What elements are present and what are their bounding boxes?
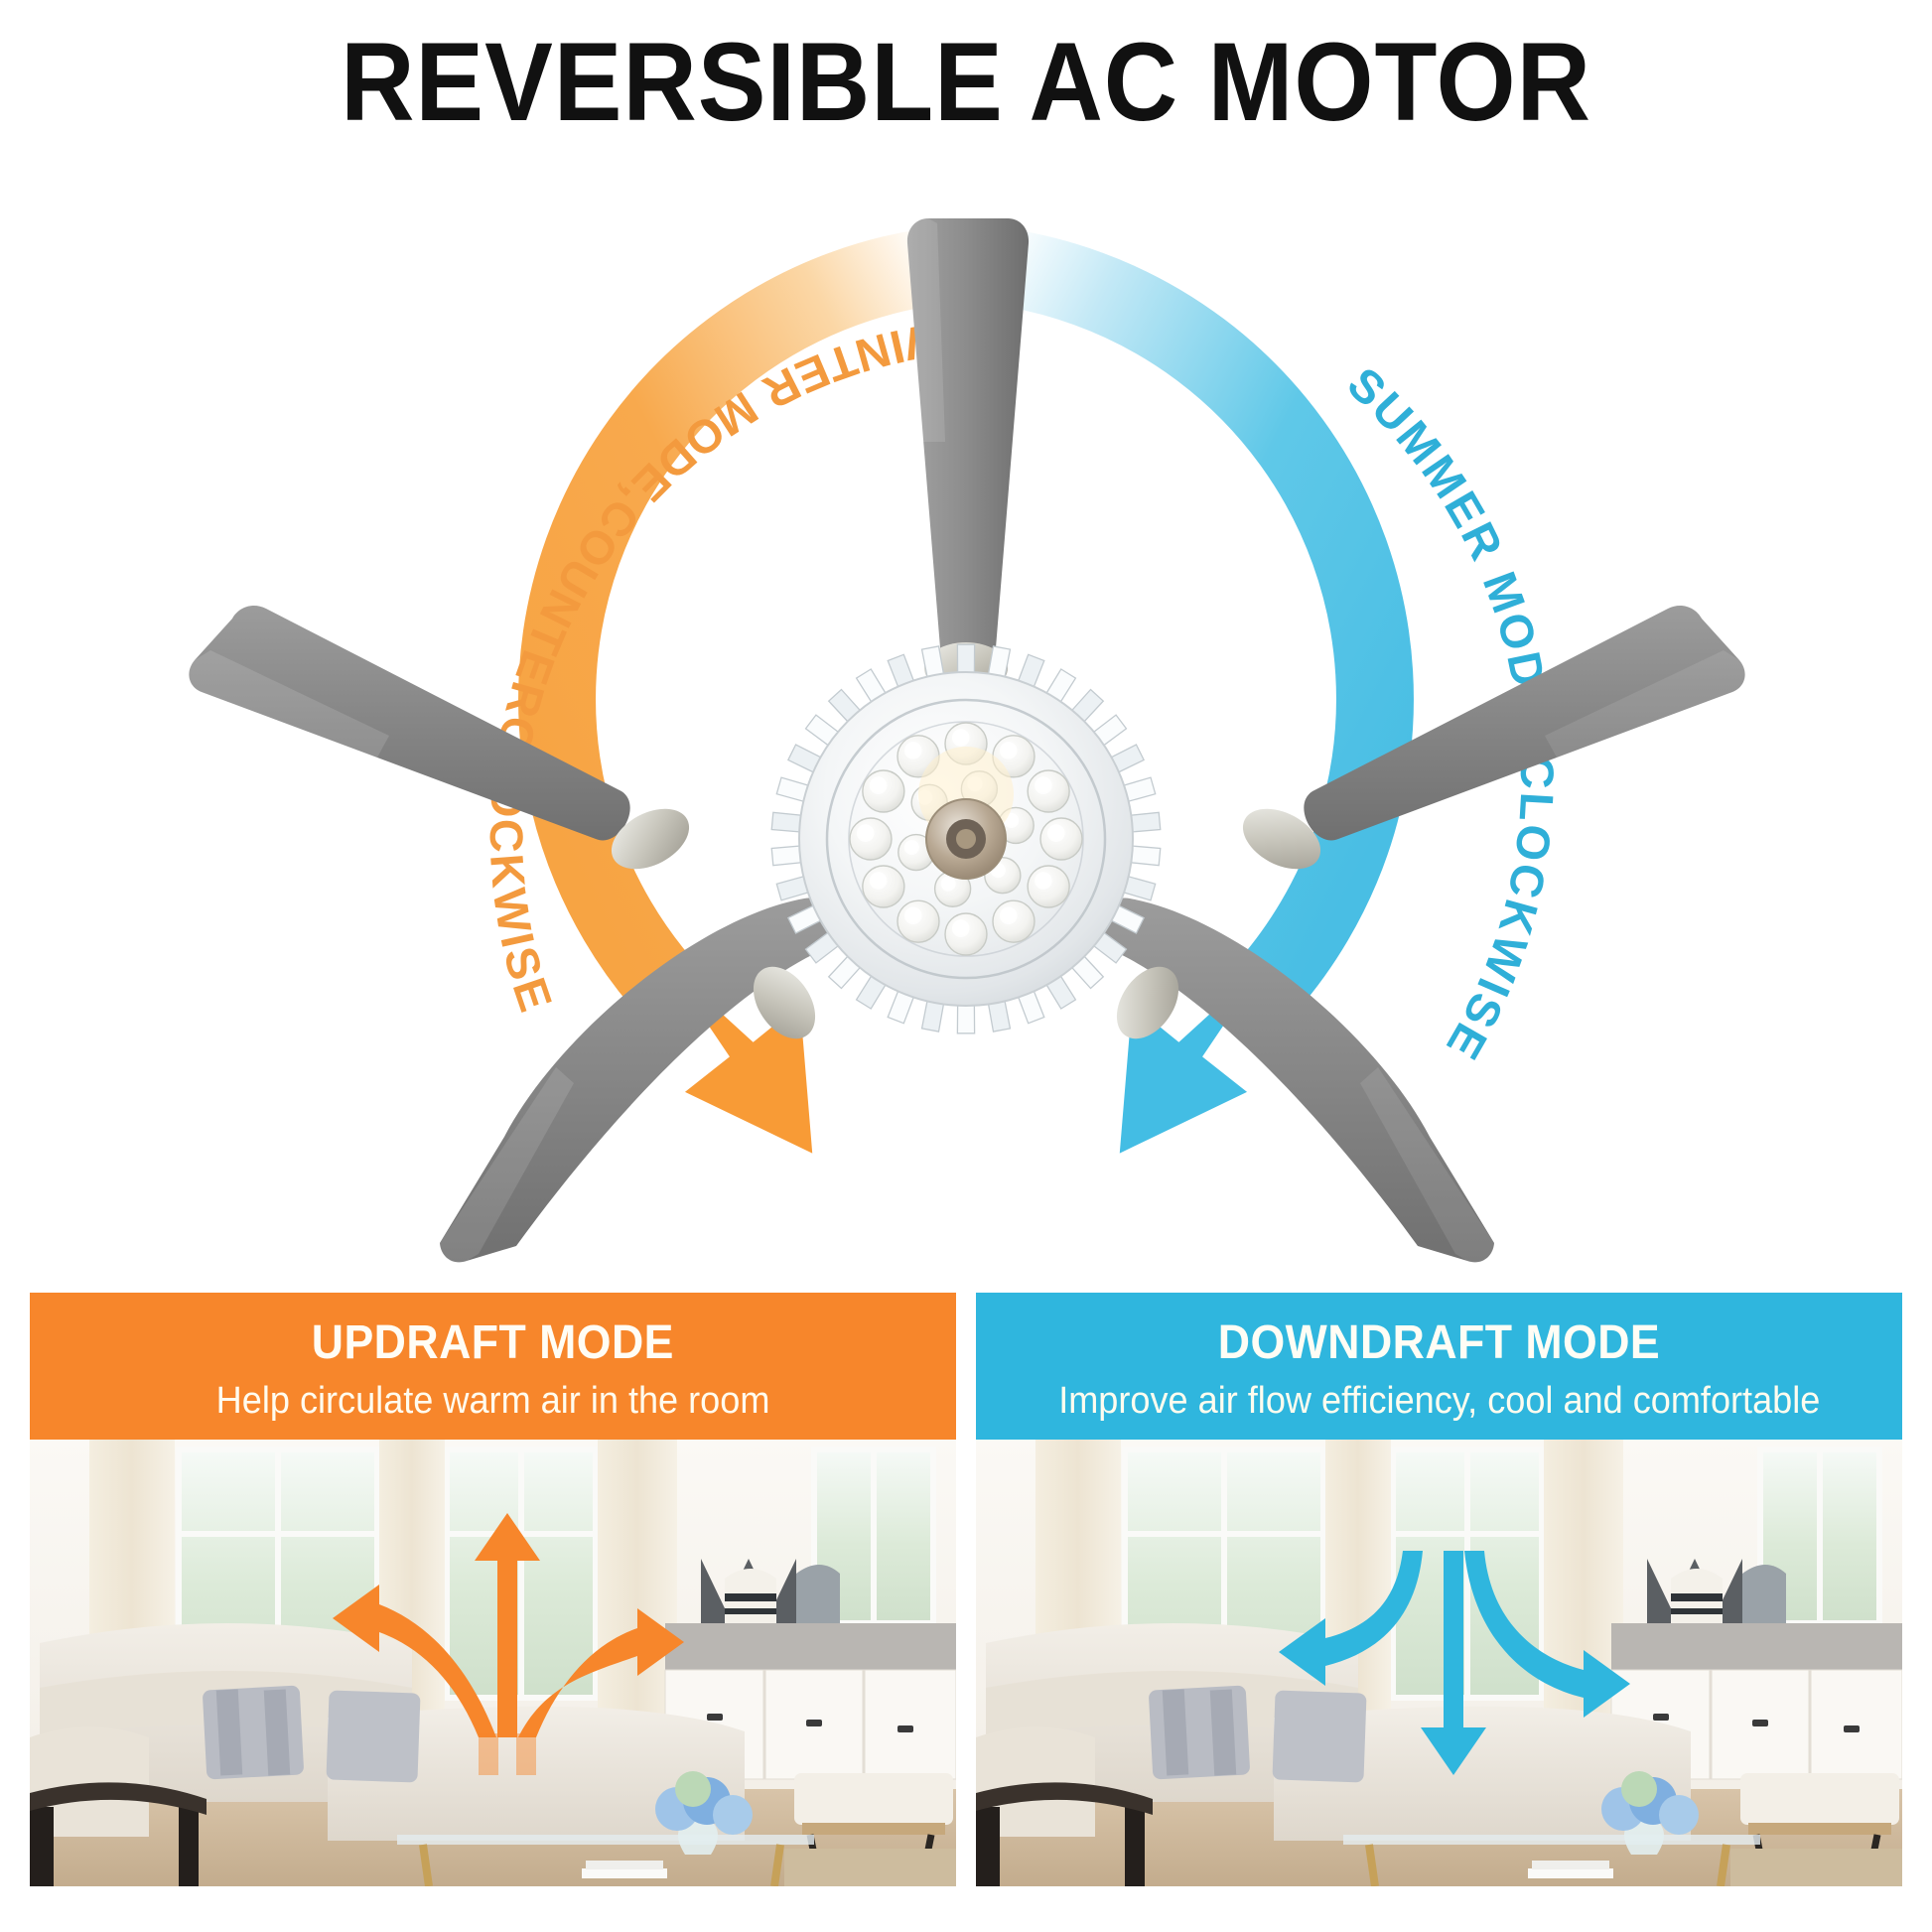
downdraft-title: DOWNDRAFT MODE bbox=[1218, 1315, 1660, 1370]
downdraft-room-photo bbox=[976, 1440, 1902, 1886]
downdraft-banner: DOWNDRAFT MODE Improve air flow efficien… bbox=[976, 1293, 1902, 1440]
ceiling-fan bbox=[189, 218, 1744, 1262]
reversible-motor-diagram: WINTER MODE,COUNTERCLOCKWISE SUMMER MODE… bbox=[0, 144, 1932, 1266]
fan-blade-top bbox=[907, 218, 1029, 679]
updraft-subtitle: Help circulate warm air in the room bbox=[216, 1380, 770, 1423]
updraft-title: UPDRAFT MODE bbox=[312, 1315, 674, 1370]
panel-downdraft: DOWNDRAFT MODE Improve air flow efficien… bbox=[976, 1293, 1902, 1886]
updraft-room-photo bbox=[30, 1440, 956, 1886]
page-title: REVERSIBLE AC MOTOR bbox=[77, 18, 1855, 146]
downdraft-subtitle: Improve air flow efficiency, cool and co… bbox=[1058, 1380, 1820, 1423]
updraft-banner: UPDRAFT MODE Help circulate warm air in … bbox=[30, 1293, 956, 1440]
fan-light-hub bbox=[771, 644, 1161, 1034]
panel-updraft: UPDRAFT MODE Help circulate warm air in … bbox=[30, 1293, 956, 1886]
